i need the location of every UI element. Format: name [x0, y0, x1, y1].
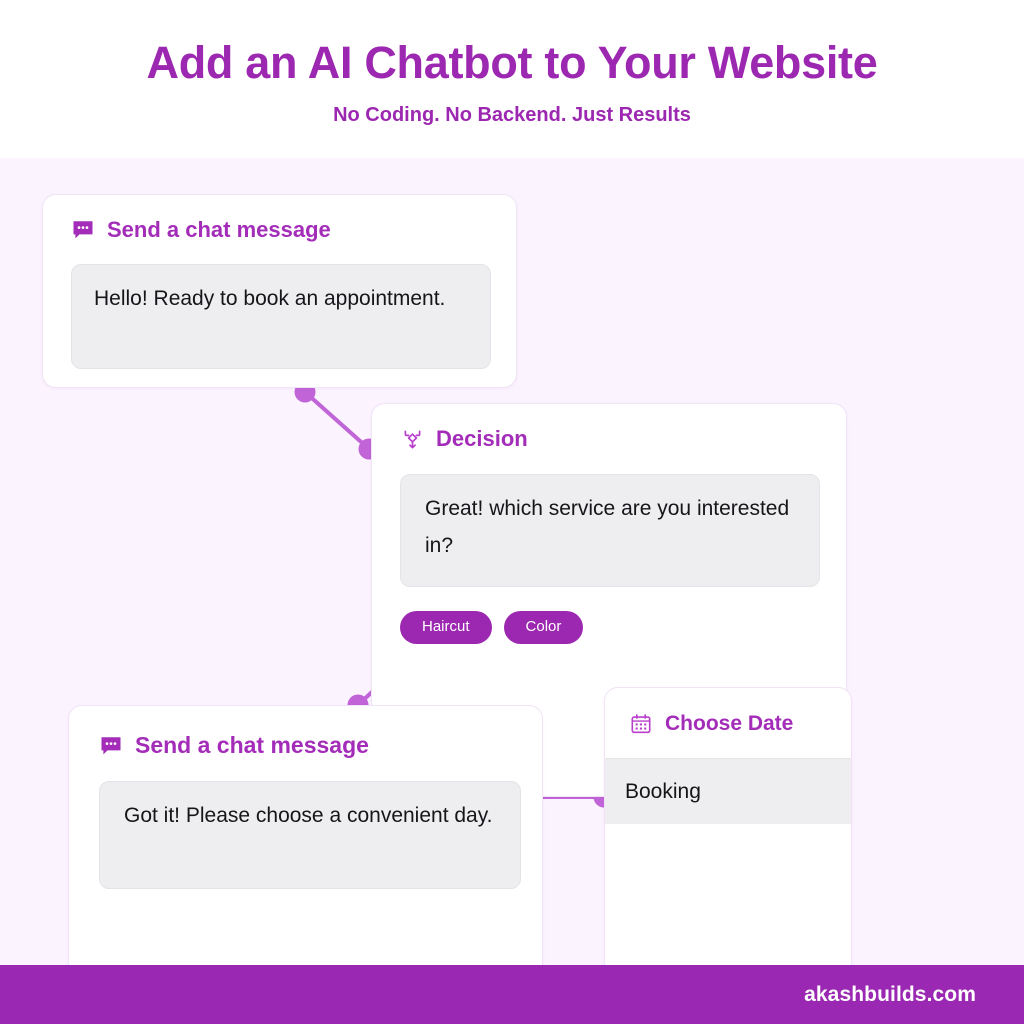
choose-date-value[interactable]: Booking: [605, 758, 851, 824]
page-header: Add an AI Chatbot to Your Website No Cod…: [0, 0, 1024, 158]
node-header: Send a chat message: [71, 217, 488, 243]
decision-option-list: Haircut Color: [400, 611, 818, 644]
decision-option-haircut[interactable]: Haircut: [400, 611, 492, 644]
decision-option-color[interactable]: Color: [504, 611, 584, 644]
node-title: Send a chat message: [135, 732, 369, 759]
node-card-chat-message-2[interactable]: Send a chat message Got it! Please choos…: [68, 705, 543, 965]
node-message-bubble: Hello! Ready to book an appointment.: [71, 264, 491, 369]
node-card-choose-date[interactable]: Choose Date Booking: [604, 687, 852, 965]
page-subtitle: No Coding. No Backend. Just Results: [333, 104, 691, 127]
node-title: Choose Date: [665, 712, 793, 736]
chat-bubble-icon: [99, 734, 123, 758]
node-header: Send a chat message: [99, 732, 512, 759]
node-message-bubble: Got it! Please choose a convenient day.: [99, 781, 521, 889]
node-header: Decision: [400, 426, 818, 452]
calendar-icon: [629, 712, 653, 736]
node-title: Decision: [436, 426, 528, 452]
node-card-chat-message-1[interactable]: Send a chat message Hello! Ready to book…: [42, 194, 517, 388]
node-title: Send a chat message: [107, 217, 331, 243]
connector-line-chat1-decision: [305, 392, 369, 449]
node-header: Choose Date: [605, 688, 851, 758]
node-message-bubble: Great! which service are you interested …: [400, 474, 820, 587]
footer-website-url: akashbuilds.com: [804, 983, 1024, 1007]
flow-canvas[interactable]: Send a chat message Hello! Ready to book…: [0, 158, 1024, 965]
page-footer: akashbuilds.com: [0, 965, 1024, 1024]
decision-branch-icon: [400, 427, 424, 451]
page-title: Add an AI Chatbot to Your Website: [147, 38, 878, 88]
chat-bubble-icon: [71, 218, 95, 242]
